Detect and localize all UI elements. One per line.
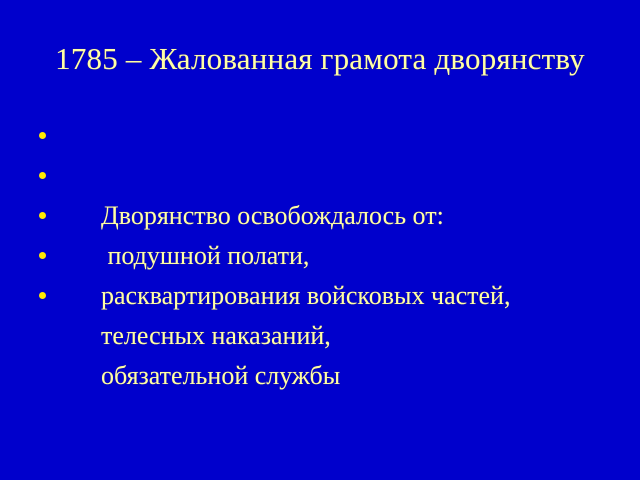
- list-item-label: обязательной службы: [101, 356, 340, 396]
- bullet-dot-icon: [39, 252, 46, 259]
- bullet-dot-icon: [39, 212, 46, 219]
- list-item: Дворянство освобождалось от:: [0, 116, 640, 156]
- presentation-slide: 1785 – Жалованная грамота дворянству Дво…: [0, 0, 640, 480]
- list-item: подушной полати,: [0, 156, 640, 196]
- bullet-dot-icon: [39, 292, 46, 299]
- bullet-dot-icon: [39, 132, 46, 139]
- list-item: расквартирования войсковых частей,: [0, 196, 640, 236]
- bullet-dot-icon: [39, 172, 46, 179]
- list-item-label: телесных наказаний,: [101, 316, 331, 356]
- slide-title: 1785 – Жалованная грамота дворянству: [0, 40, 640, 78]
- bullet-list: Дворянство освобождалось от: подушной по…: [0, 116, 640, 316]
- list-item: телесных наказаний,: [0, 236, 640, 276]
- list-item: обязательной службы: [0, 276, 640, 316]
